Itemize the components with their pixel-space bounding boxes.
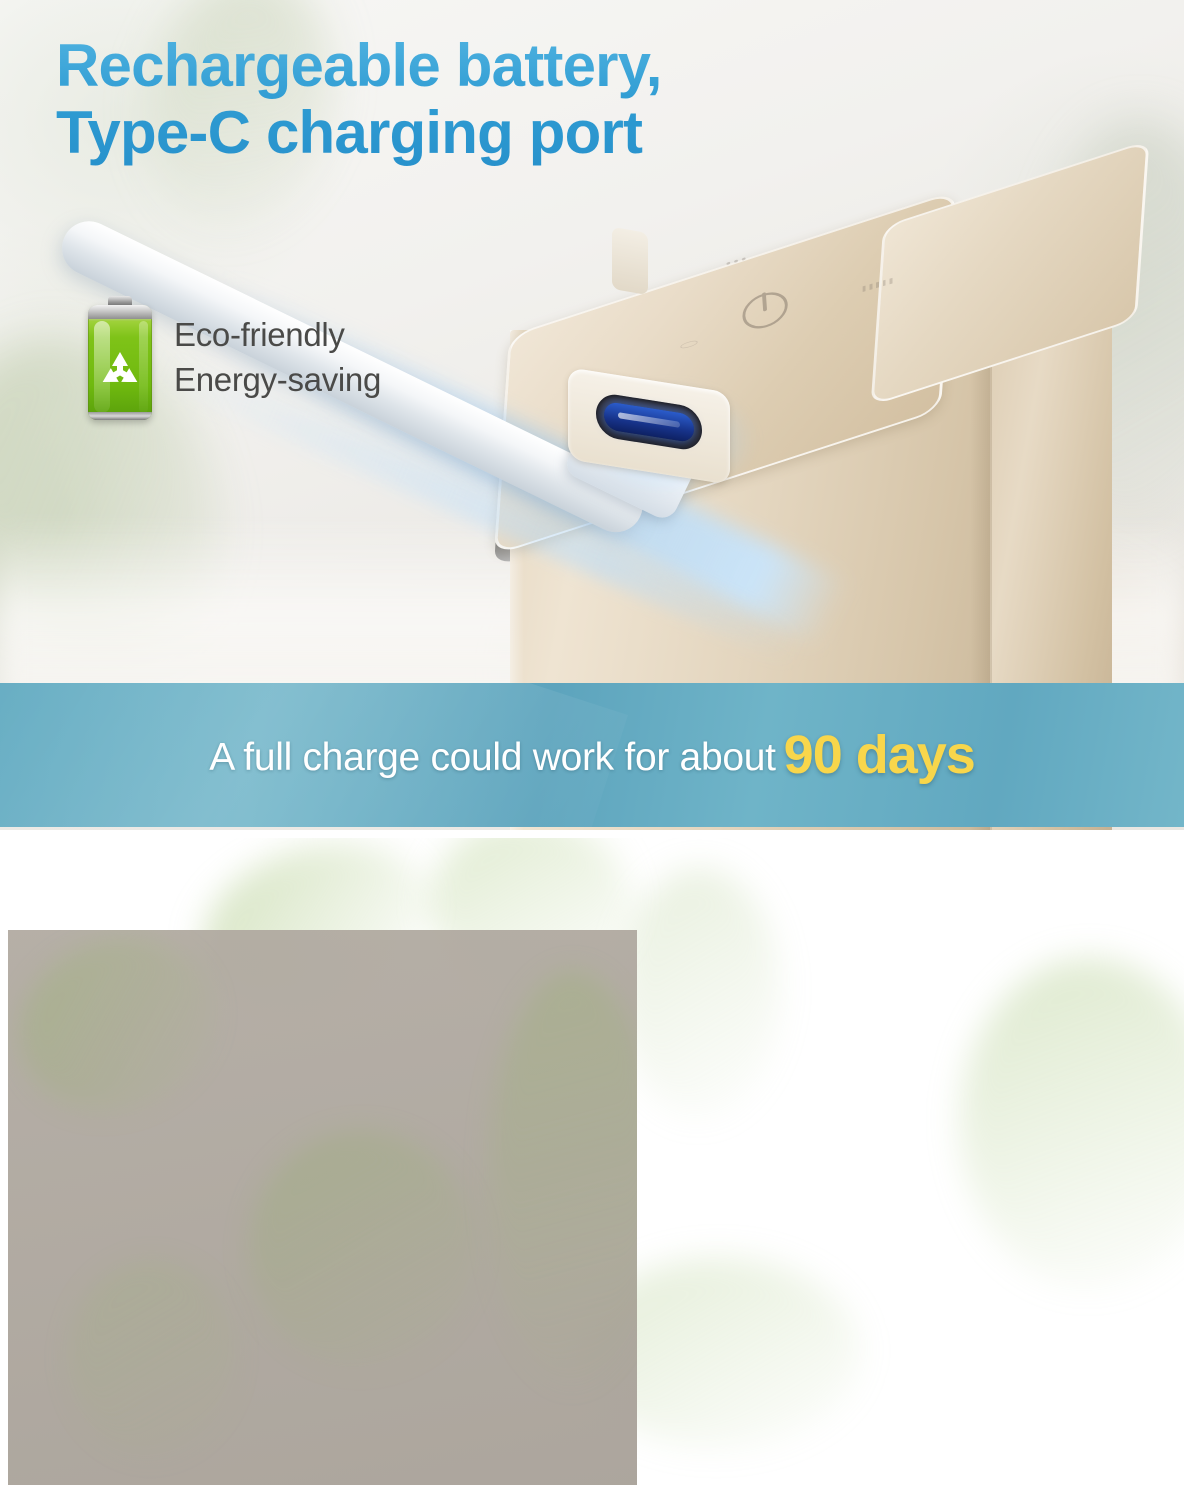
- eco-line-1: Eco-friendly: [174, 313, 381, 358]
- eco-line-2: Energy-saving: [174, 358, 381, 403]
- panel-foliage-blur: [68, 1260, 238, 1460]
- eco-feature-text: Eco-friendly Energy-saving: [174, 313, 381, 402]
- panel-foliage-blur: [8, 930, 243, 1141]
- port-cover-tab: [612, 227, 648, 295]
- headline-line-2: Type-C charging port: [56, 99, 886, 166]
- battery-life-banner-text: A full charge could work for about90 day…: [209, 724, 975, 786]
- port-blue-contact: [604, 401, 694, 443]
- background-foliage-blur: [620, 868, 780, 1118]
- green-battery-recycle-icon: [88, 296, 152, 420]
- recycle-icon: [97, 349, 143, 395]
- port-recess: [596, 392, 702, 453]
- background-foliage-blur: [960, 958, 1184, 1288]
- panel-foliage-blur: [488, 970, 637, 1390]
- battery-top-chrome: [88, 305, 152, 319]
- eco-feature: Eco-friendly Energy-saving: [88, 296, 381, 420]
- banner-main-text: A full charge could work for about: [209, 736, 775, 779]
- banner-highlight-text: 90 days: [784, 725, 975, 785]
- battery-body: [88, 305, 152, 420]
- panel-foliage-blur: [248, 1130, 478, 1370]
- rechargeable-battery-section: Rechargeable battery, Type-C charging po…: [0, 0, 1184, 830]
- battery-bottom-chrome: [88, 412, 152, 420]
- headline-line-1: Rechargeable battery,: [56, 32, 886, 99]
- battery-life-banner: A full charge could work for about90 day…: [0, 683, 1184, 827]
- page-title: Rechargeable battery, Type-C charging po…: [56, 32, 886, 166]
- clear-soap-labels-section: Hand Soap Clear Soap Labels: [0, 838, 1184, 1485]
- labels-panel-background: [8, 930, 637, 1485]
